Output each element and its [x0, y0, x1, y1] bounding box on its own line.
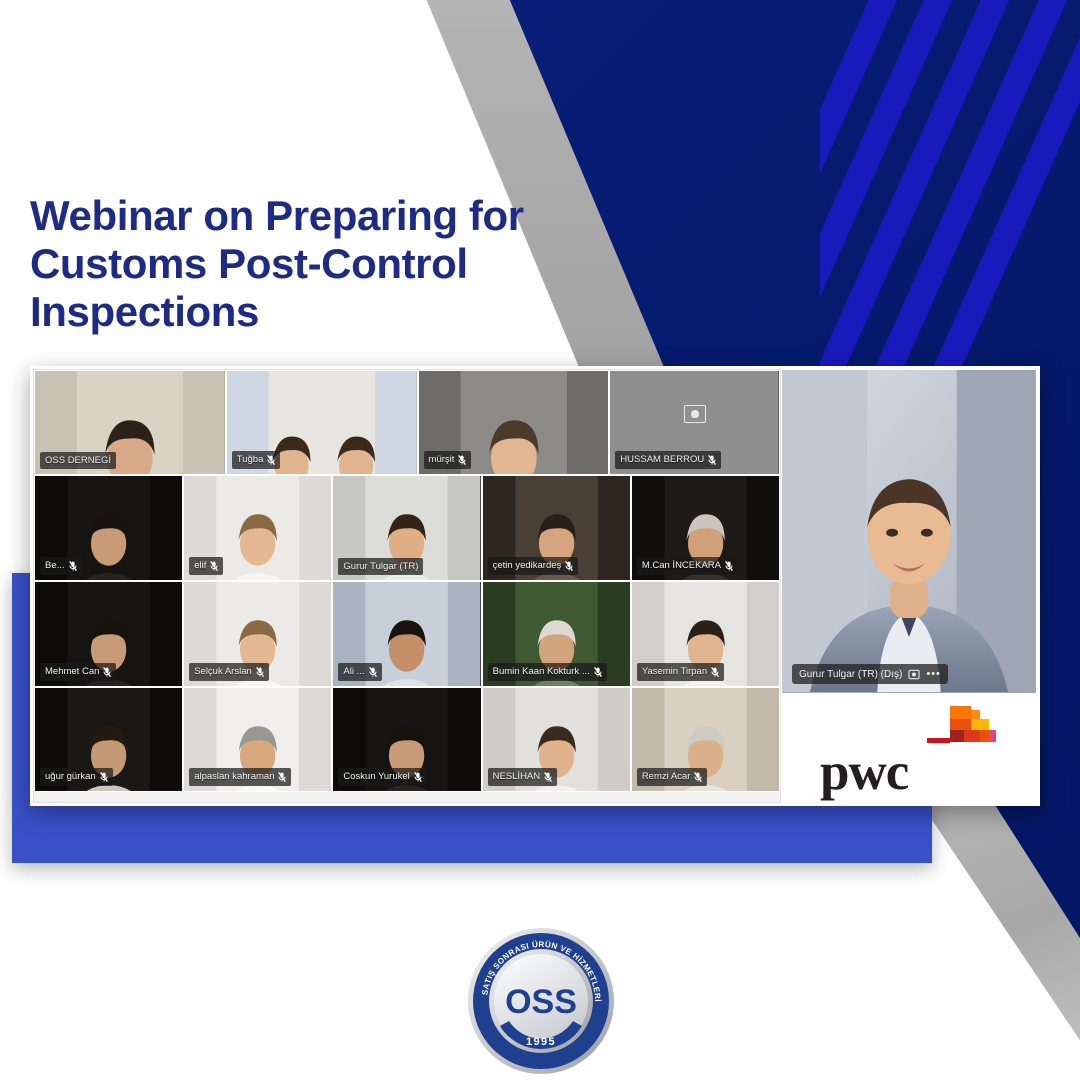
participant-tile[interactable]: Remzi Acar: [631, 687, 780, 792]
grid-row-2: Be...elifGurur Tulgar (TR)çetin yedikard…: [34, 475, 780, 581]
participant-name-label: Gurur Tulgar (TR): [338, 558, 423, 576]
grid-row-4: uğur gürkanalpaslan kahramanCoskun Yuruk…: [34, 687, 780, 792]
more-options-icon[interactable]: •••: [926, 668, 941, 680]
active-speaker-name-label: Gurur Tulgar (TR) (Dış) •••: [792, 664, 948, 684]
participant-name: elif: [194, 561, 206, 571]
title-line-1: Webinar on Preparing for: [30, 192, 630, 240]
participant-name-label: OSS DERNEGİ: [40, 452, 116, 470]
participant-name: uğur gürkan: [45, 772, 96, 782]
participant-tile[interactable]: Bumin Kaan Kokturk ...: [482, 581, 631, 687]
participant-name: Remzi Acar: [642, 772, 691, 782]
participant-tile[interactable]: mürşit: [418, 370, 610, 475]
participant-name: OSS DERNEGİ: [45, 456, 111, 466]
participant-tile[interactable]: Be...: [34, 475, 183, 581]
participant-name: M.Can İNCEKARA: [642, 561, 721, 571]
participant-name: HUSSAM BERROU: [620, 455, 704, 465]
participant-name-label: Ali ...: [338, 663, 381, 681]
participant-tile[interactable]: M.Can İNCEKARA: [631, 475, 780, 581]
participant-name: Coskun Yurukel: [343, 772, 409, 782]
participant-name-label: Selçuk Arslan: [189, 663, 269, 681]
oss-founded-year: 1995: [526, 1036, 556, 1048]
title-line-3: Inspections: [30, 288, 630, 336]
pwc-wordmark: pwc: [820, 746, 908, 799]
video-meeting-card: OSS DERNEGİTuğbamürşitHUSSAM BERROU Be..…: [30, 366, 1040, 806]
microphone-off-icon: [458, 455, 466, 465]
participant-tile[interactable]: Coskun Yurukel: [332, 687, 481, 792]
participant-name-label: NESLİHAN: [488, 768, 558, 786]
microphone-off-icon: [103, 667, 111, 677]
participant-name-label: M.Can İNCEKARA: [637, 557, 738, 575]
right-column: Gurur Tulgar (TR) (Dış) •••: [781, 369, 1037, 803]
active-speaker-tile[interactable]: Gurur Tulgar (TR) (Dış) •••: [781, 369, 1037, 694]
participant-name-label: alpaslan kahraman: [189, 768, 291, 786]
participant-name-label: Mehmet Can: [40, 663, 116, 681]
oss-association-logo: OSS 1995 OTOMOTİV SATIŞ SONRASI ÜRÜN VE …: [465, 925, 617, 1077]
participant-tile[interactable]: Selçuk Arslan: [183, 581, 332, 687]
participant-name: mürşit: [429, 455, 455, 465]
microphone-off-icon: [708, 455, 716, 465]
microphone-off-icon: [711, 667, 719, 677]
participant-name: çetin yedikardeş: [493, 561, 562, 571]
pinned-participant-icon: [908, 669, 920, 680]
participant-name: Be...: [45, 561, 65, 571]
participant-name: NESLİHAN: [493, 772, 541, 782]
participant-name-label: Be...: [40, 557, 82, 575]
participant-name: Tuğba: [237, 455, 264, 465]
microphone-off-icon: [694, 772, 702, 782]
microphone-off-icon: [594, 667, 602, 677]
participant-tile[interactable]: Tuğba: [226, 370, 418, 475]
participant-tile[interactable]: HUSSAM BERROU: [609, 370, 780, 475]
microphone-off-icon: [267, 455, 275, 465]
grid-row-1: OSS DERNEGİTuğbamürşitHUSSAM BERROU: [34, 370, 780, 475]
active-speaker-name: Gurur Tulgar (TR) (Dış): [799, 669, 902, 680]
microphone-off-icon: [369, 667, 377, 677]
participant-tile[interactable]: Mehmet Can: [34, 581, 183, 687]
microphone-off-icon: [725, 561, 733, 571]
page-title: Webinar on Preparing for Customs Post-Co…: [30, 192, 630, 336]
participant-tile[interactable]: NESLİHAN: [482, 687, 631, 792]
participant-name-label: Tuğba: [232, 451, 281, 469]
microphone-off-icon: [256, 667, 264, 677]
participant-name-label: Yasemin Tirpan: [637, 663, 724, 681]
microphone-off-icon: [414, 772, 422, 782]
participant-name: Mehmet Can: [45, 667, 99, 677]
speaker-video-frame: [782, 370, 1036, 692]
participant-name-label: Bumin Kaan Kokturk ...: [488, 663, 607, 681]
microphone-off-icon: [210, 561, 218, 571]
participant-name-label: Remzi Acar: [637, 768, 708, 786]
participant-tile[interactable]: uğur gürkan: [34, 687, 183, 792]
microphone-off-icon: [69, 561, 77, 571]
participant-name-label: mürşit: [424, 451, 472, 469]
grid-row-3: Mehmet CanSelçuk ArslanAli ...Bumin Kaan…: [34, 581, 780, 687]
participant-tile[interactable]: Gurur Tulgar (TR): [332, 475, 481, 581]
participant-tile[interactable]: çetin yedikardeş: [482, 475, 631, 581]
pwc-blocks-icon: [924, 705, 998, 751]
participant-name: Bumin Kaan Kokturk ...: [493, 667, 590, 677]
participant-tile[interactable]: Yasemin Tirpan: [631, 581, 780, 687]
microphone-off-icon: [544, 772, 552, 782]
oss-acronym: OSS: [505, 983, 577, 1021]
microphone-off-icon: [100, 772, 108, 782]
camera-off-icon: [684, 405, 706, 423]
participant-name: Ali ...: [343, 667, 364, 677]
participant-tile[interactable]: Ali ...: [332, 581, 481, 687]
participant-tile[interactable]: elif: [183, 475, 332, 581]
oss-logo-svg: OSS 1995 OTOMOTİV SATIŞ SONRASI ÜRÜN VE …: [465, 925, 617, 1077]
participant-name-label: çetin yedikardeş: [488, 557, 579, 575]
participant-name: alpaslan kahraman: [194, 772, 274, 782]
participant-name-label: uğur gürkan: [40, 768, 113, 786]
participant-name-label: Coskun Yurukel: [338, 768, 426, 786]
microphone-off-icon: [565, 561, 573, 571]
participant-name: Gurur Tulgar (TR): [343, 562, 418, 572]
title-line-2: Customs Post-Control: [30, 240, 630, 288]
participant-name-label: HUSSAM BERROU: [615, 451, 721, 469]
participant-name-label: elif: [189, 557, 223, 575]
participant-name: Selçuk Arslan: [194, 667, 252, 677]
microphone-off-icon: [278, 772, 286, 782]
pwc-logo-panel: pwc: [781, 694, 1037, 803]
participant-grid: OSS DERNEGİTuğbamürşitHUSSAM BERROU Be..…: [33, 369, 781, 803]
participant-tile[interactable]: alpaslan kahraman: [183, 687, 332, 792]
participant-name: Yasemin Tirpan: [642, 667, 707, 677]
background-diagonal-stripes: [820, 0, 1080, 420]
participant-tile[interactable]: OSS DERNEGİ: [34, 370, 226, 475]
